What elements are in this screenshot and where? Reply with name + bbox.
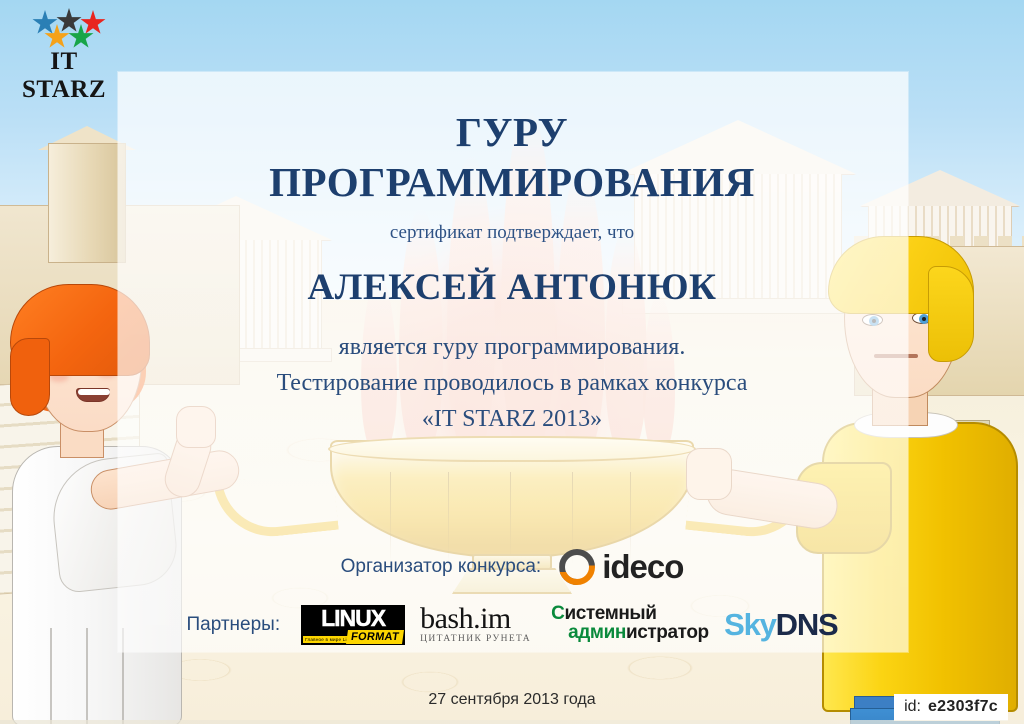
certificate-title-line-1: ГУРУ: [0, 108, 1024, 156]
partners-label: Партнеры:: [186, 614, 280, 636]
certificate-title-line-2: ПРОГРАММИРОВАНИЯ: [0, 158, 1024, 206]
certificate-canvas: IT STARZ ГУРУ ПРОГРАММИРОВАНИЯ сертифика…: [0, 0, 1024, 724]
linux-format-line2: FORMAT: [346, 630, 404, 644]
ideco-swirl-icon: [559, 549, 595, 585]
organizer-row: Организатор конкурса: ideco: [0, 548, 1024, 586]
certificate-id-label: id:: [904, 698, 921, 716]
partners-row: Партнеры: LINUX Главное в мире Linux FOR…: [0, 604, 1024, 646]
sysadmin-l1-green: С: [551, 603, 564, 624]
partner-logo-skydns: SkyDNS: [724, 608, 837, 642]
certificate-id-box: id: e2303f7c: [894, 694, 1008, 721]
issue-date: 27 сентября 2013 года: [0, 691, 1024, 709]
linux-format-line1: LINUX: [305, 606, 401, 630]
certificate-body-line-1: является гуру программирования.: [0, 334, 1024, 361]
certificate-subtitle: сертификат подтверждает, что: [0, 222, 1024, 244]
certificate-body-line-2: Тестирование проводилось в рамках конкур…: [0, 370, 1024, 397]
sysadmin-l1-dark: истемный: [564, 603, 656, 624]
sysadmin-l2-green: админ: [568, 622, 626, 643]
sysadmin-line2: администратор: [568, 623, 709, 642]
it-starz-logo: IT STARZ: [12, 8, 116, 78]
certificate-content: IT STARZ ГУРУ ПРОГРАММИРОВАНИЯ сертифика…: [0, 0, 1024, 724]
skydns-dns: DNS: [776, 607, 838, 642]
sysadmin-l2-dark: истратор: [626, 622, 709, 643]
star-black-icon: [56, 8, 82, 34]
certificate-id-value: e2303f7c: [928, 698, 998, 716]
bash-im-tagline: ЦИТАТНИК РУНЕТА: [420, 634, 536, 645]
ideco-logo: ideco: [559, 548, 683, 586]
partner-logo-linux-format: LINUX Главное в мире Linux FORMAT: [301, 605, 405, 645]
ideco-wordmark: ideco: [602, 548, 683, 586]
organizer-label: Организатор конкурса:: [341, 556, 542, 578]
star-red-icon: [80, 10, 106, 36]
brand-name: IT STARZ: [12, 48, 116, 104]
star-blue-icon: [32, 10, 58, 36]
certificate-body-line-3: «IT STARZ 2013»: [0, 406, 1024, 433]
sysadmin-line1: Системный: [551, 604, 709, 623]
stars-group: [12, 8, 112, 48]
partner-logo-bash-im: bash.im ЦИТАТНИК РУНЕТА: [420, 604, 536, 646]
bash-im-wordmark: bash.im: [420, 604, 536, 634]
partner-logo-sysadmin: Системный администратор: [551, 604, 709, 646]
recipient-name: АЛЕКСЕЙ АНТОНЮК: [0, 266, 1024, 309]
skydns-sky: Sky: [724, 607, 776, 642]
bottom-edge-strip: [0, 720, 1024, 724]
